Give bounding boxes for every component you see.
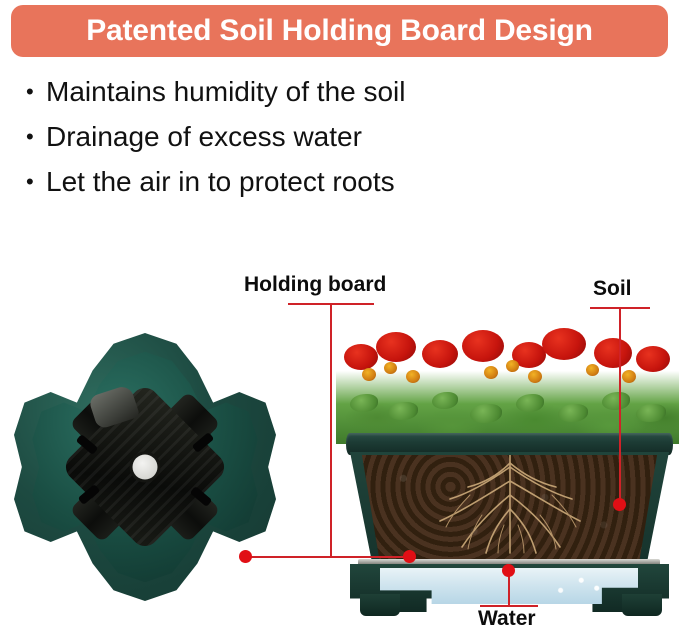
header-banner: Patented Soil Holding Board Design — [11, 5, 668, 57]
feature-item: • Maintains humidity of the soil — [26, 72, 646, 117]
callout-label-holding-board: Holding board — [244, 273, 386, 297]
leader-run-holding-board — [245, 556, 412, 558]
flower-bloom — [376, 332, 416, 362]
product-diagram: Holding board Soil Water — [0, 255, 679, 638]
flower-bloom — [636, 346, 670, 372]
flower-bloom-small — [586, 364, 599, 376]
flower-bloom — [422, 340, 458, 368]
callout-label-water: Water — [478, 607, 536, 631]
leader-dot-holding-board-right — [403, 550, 416, 563]
infographic-page: Patented Soil Holding Board Design • Mai… — [0, 0, 679, 638]
root-system — [362, 455, 657, 561]
feature-item: • Drainage of excess water — [26, 117, 646, 162]
leader-dot-holding-board-left — [239, 550, 252, 563]
bullet-icon: • — [26, 117, 46, 157]
flower-bloom-small — [384, 362, 397, 374]
planter-foot — [360, 594, 400, 616]
leader-dot-soil — [613, 498, 626, 511]
flower-bloom-small — [484, 366, 498, 379]
feature-text: Let the air in to protect roots — [46, 162, 395, 202]
page-title: Patented Soil Holding Board Design — [86, 16, 593, 46]
planter-foot — [622, 594, 662, 616]
leader-dot-water — [502, 564, 515, 577]
leader-stem-soil — [619, 307, 621, 505]
feature-item: • Let the air in to protect roots — [26, 162, 646, 207]
bullet-icon: • — [26, 72, 46, 112]
flower-bloom-small — [406, 370, 420, 383]
feature-list: • Maintains humidity of the soil • Drain… — [26, 72, 646, 207]
flower-bloom — [542, 328, 586, 360]
feature-text: Maintains humidity of the soil — [46, 72, 406, 112]
callout-label-soil: Soil — [593, 277, 632, 301]
flower-bloom-small — [362, 368, 376, 381]
flower-bloom-small — [622, 370, 636, 383]
flower-bloom — [462, 330, 504, 362]
leader-stem-water — [508, 573, 510, 606]
board-structure — [56, 378, 234, 556]
flower-bloom-small — [528, 370, 542, 383]
planter-rim — [346, 433, 673, 455]
holding-board-product-photo — [14, 333, 276, 601]
board-center-hole — [133, 455, 158, 480]
flower-bloom-small — [506, 360, 519, 372]
flower-bloom — [594, 338, 632, 368]
flower-bloom — [344, 344, 378, 370]
leader-stem-holding-board — [330, 303, 332, 557]
bullet-icon: • — [26, 162, 46, 202]
feature-text: Drainage of excess water — [46, 117, 362, 157]
